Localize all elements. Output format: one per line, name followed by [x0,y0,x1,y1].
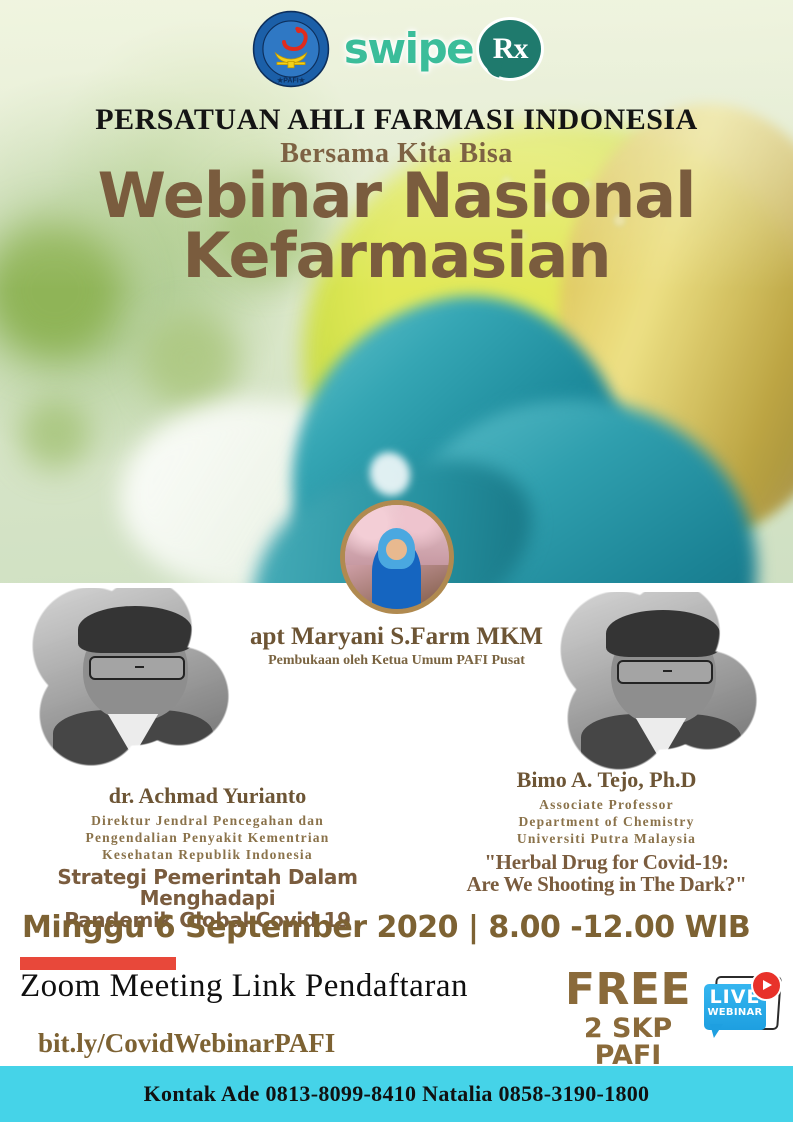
avatar [340,500,454,614]
page-title: Webinar Nasional Kefarmasian [0,166,793,285]
center-speaker-name: apt Maryani S.Farm MKM [0,623,793,651]
speaker-role-line: Direktur Jendral Pencegahan dan [0,813,415,830]
event-datetime: Minggu 6 September 2020 | 8.00 -12.00 WI… [22,910,750,945]
logo-row: ★PAFI★ swipe Rx [0,6,793,92]
rx-bubble-icon: Rx [479,20,541,78]
svg-text:★PAFI★: ★PAFI★ [277,77,306,85]
registration-link[interactable]: bit.ly/CovidWebinarPAFI [38,1028,335,1059]
pafi-logo-icon: ★PAFI★ [252,10,330,88]
speaker-topic-line: Are We Shooting in The Dark?" [420,873,793,896]
center-speaker: apt Maryani S.Farm MKM Pembukaan oleh Ke… [0,500,793,669]
free-badge: FREE 2 SKP PAFI [548,968,708,1069]
speaker-role: Direktur Jendral Pencegahan dan Pengenda… [0,813,415,864]
title-line-2: Kefarmasian [0,226,793,286]
speaker-name: Bimo A. Tejo, Ph.D [420,767,793,793]
center-speaker-role: Pembukaan oleh Ketua Umum PAFI Pusat [0,653,793,669]
webinar-poster: ★PAFI★ swipe Rx PERSATUAN AHLI FARMASI I… [0,0,793,1122]
live-webinar-badge: LIVE WEBINAR [700,972,780,1044]
speaker-role-line: Associate Professor [420,797,793,814]
swipe-wordmark: swipe [344,28,473,70]
speaker-role-line: Kesehatan Republik Indonesia [0,847,415,864]
speaker-info-right: Bimo A. Tejo, Ph.D Associate Professor D… [420,767,793,896]
rx-label: Rx [479,20,541,78]
organization-name: PERSATUAN AHLI FARMASI INDONESIA [0,103,793,137]
free-label: FREE [548,968,708,1012]
contact-text: Kontak Ade 0813-8099-8410 Natalia 0858-3… [144,1081,650,1107]
swiperx-logo: swipe Rx [344,20,541,78]
virus-particle-icon [10,390,100,480]
speaker-topic-line: Strategi Pemerintah Dalam Menghadapi [0,867,415,910]
speaker-name: dr. Achmad Yurianto [0,783,415,809]
speaker-role: Associate Professor Department of Chemis… [420,797,793,848]
contact-footer: Kontak Ade 0813-8099-8410 Natalia 0858-3… [0,1066,793,1122]
speaker-role-line: Department of Chemistry [420,814,793,831]
play-button-icon [753,972,780,999]
speaker-topic: "Herbal Drug for Covid-19: Are We Shooti… [420,851,793,896]
speaker-role-line: Universiti Putra Malaysia [420,831,793,848]
speaker-role-line: Pengendalian Penyakit Kementrian [0,830,415,847]
skp-label: 2 SKP PAFI [548,1015,708,1069]
registration-heading: Zoom Meeting Link Pendaftaran [20,968,468,1005]
webinar-label: WEBINAR [700,1008,770,1018]
speaker-topic-line: "Herbal Drug for Covid-19: [420,851,793,874]
